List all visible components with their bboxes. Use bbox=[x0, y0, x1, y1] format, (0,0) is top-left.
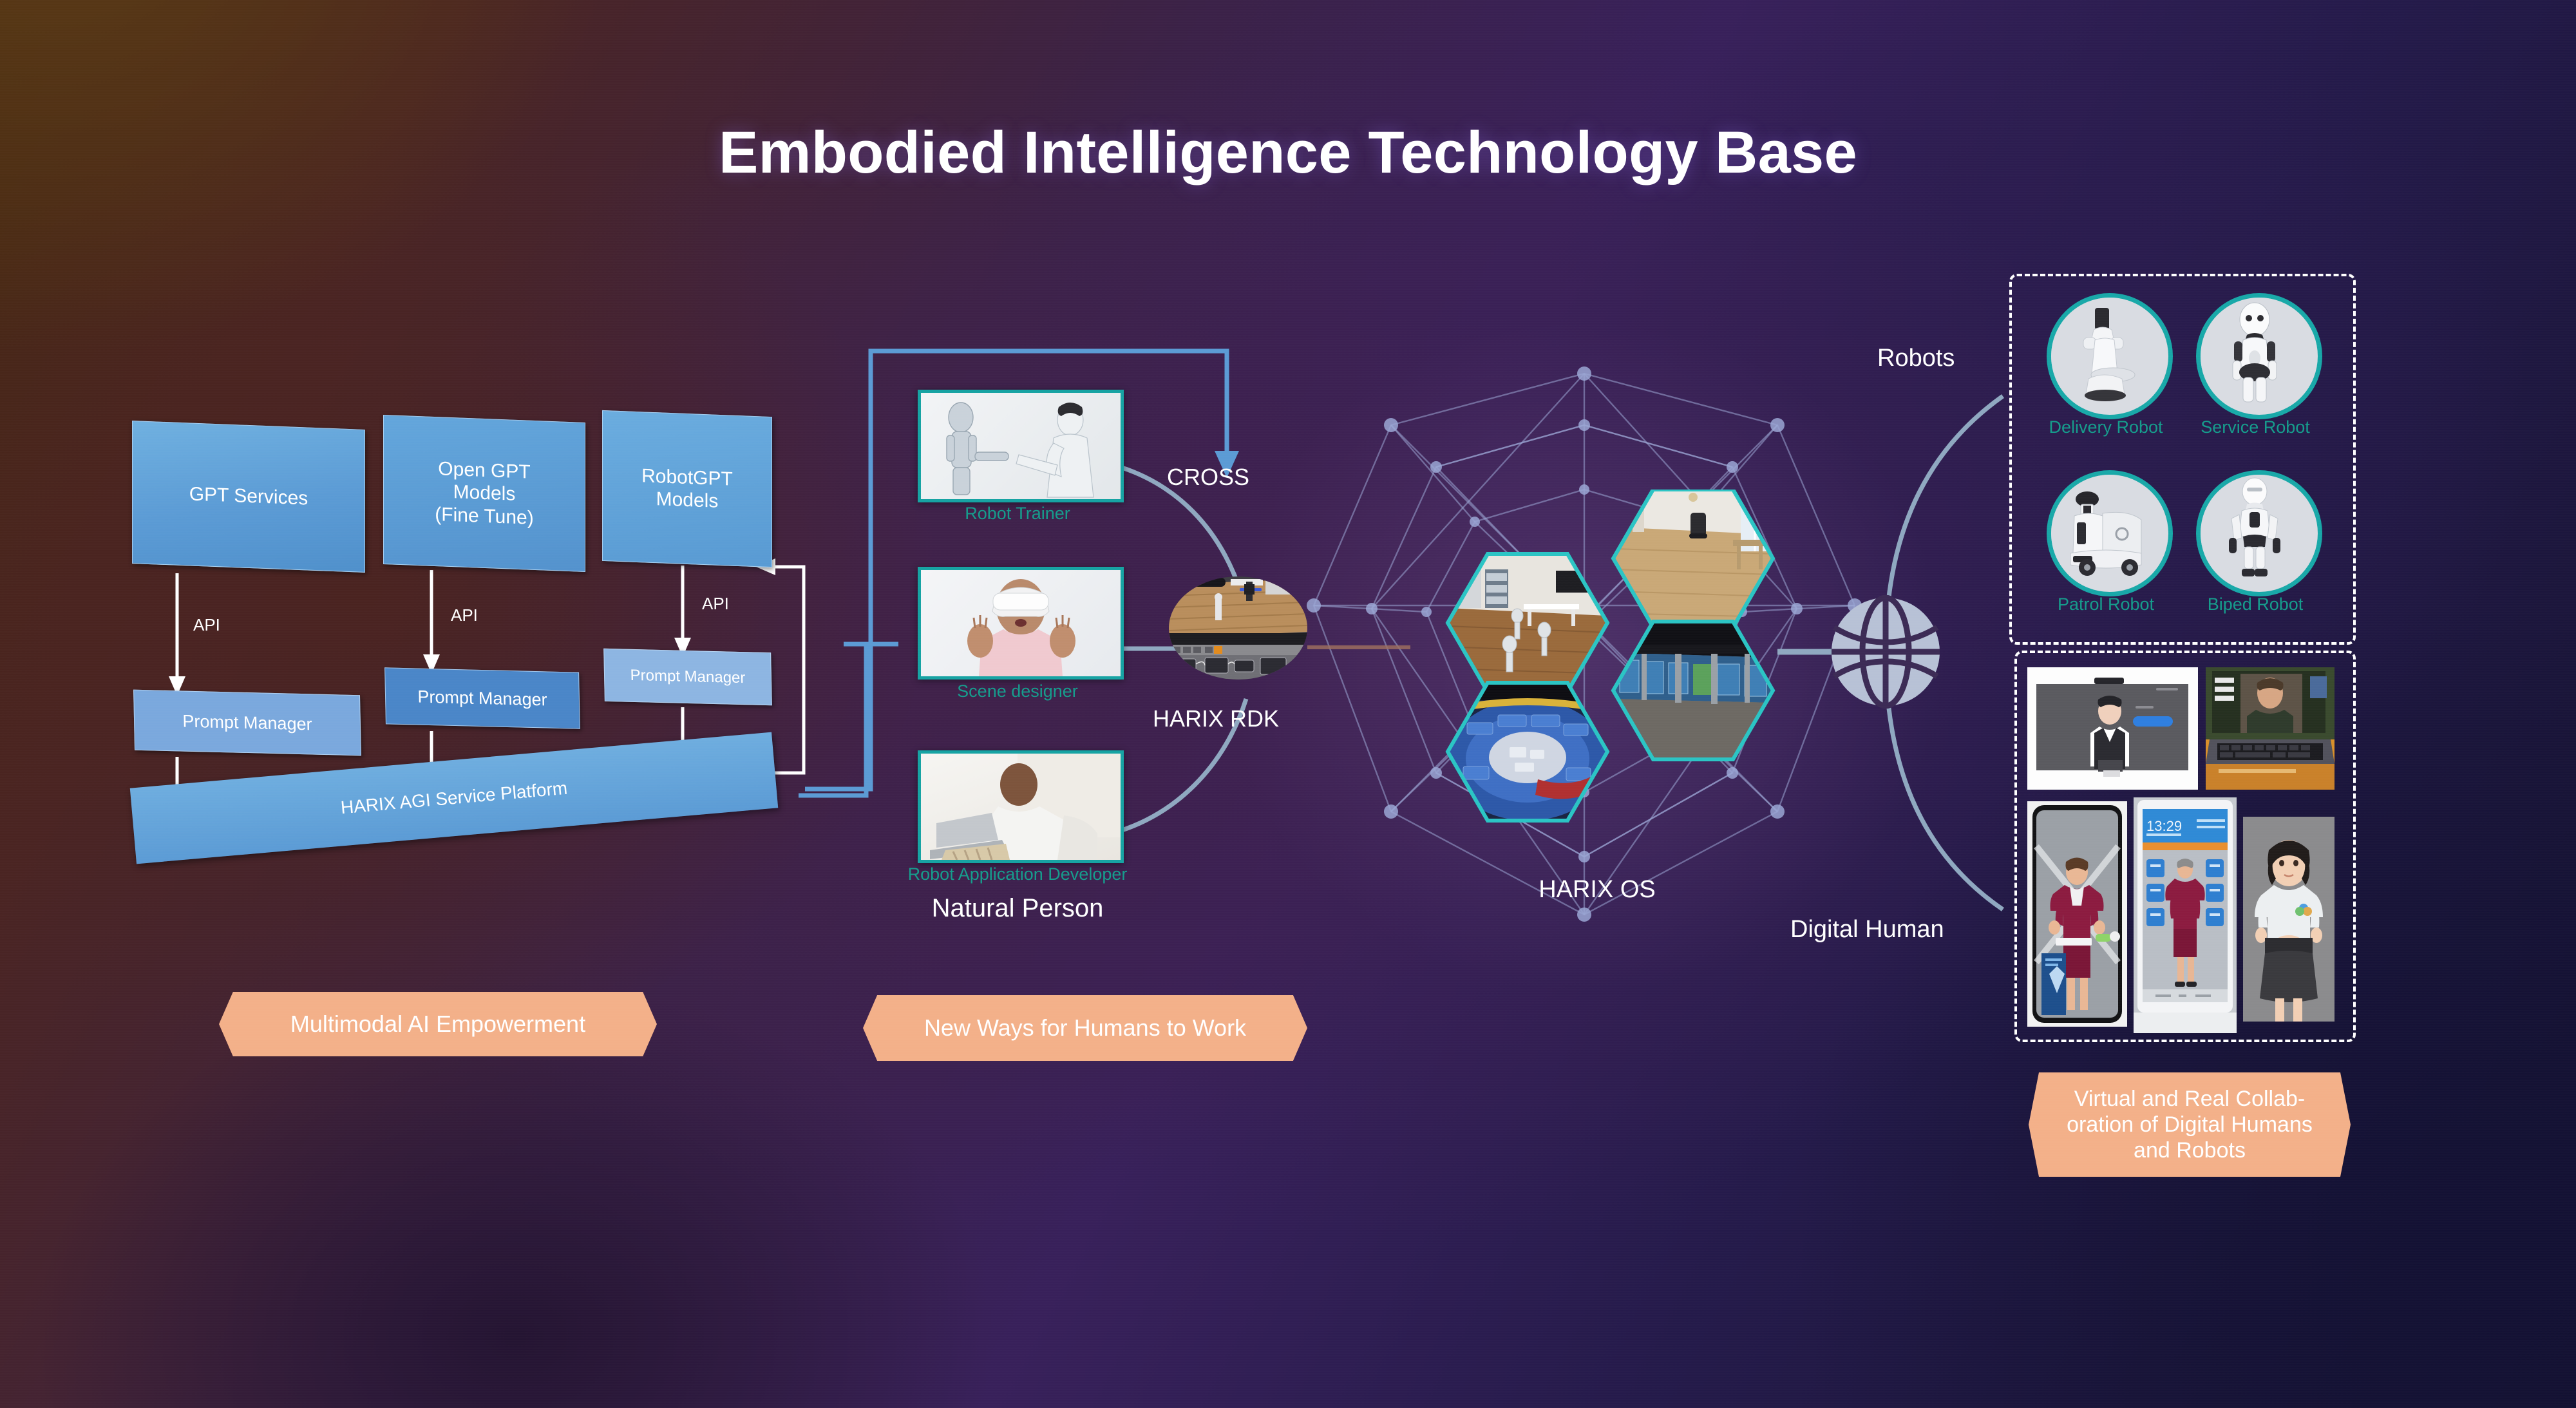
vr-headset-man-photo bbox=[921, 570, 1121, 676]
card-robot-application-developer[interactable] bbox=[918, 750, 1124, 863]
banner-2-label: New Ways for Humans to Work bbox=[924, 1014, 1246, 1042]
box-gpt-services-label: GPT Services bbox=[189, 483, 308, 510]
globe-icon bbox=[1832, 598, 1940, 706]
box-robotgpt-models[interactable]: RobotGPT Models bbox=[602, 410, 772, 567]
api-label-1: API bbox=[193, 615, 220, 635]
prompt-manager-3[interactable]: Prompt Manager bbox=[603, 649, 772, 705]
3d-scene-editor-thumb bbox=[1169, 576, 1307, 680]
cross-label: CROSS bbox=[1167, 464, 1249, 491]
digital-human-student-avatar[interactable] bbox=[2243, 817, 2334, 1022]
svg-text:13:29: 13:29 bbox=[2146, 818, 2182, 834]
banner-new-ways-for-humans-to-work: New Ways for Humans to Work bbox=[863, 995, 1307, 1061]
api-label-2: API bbox=[451, 605, 478, 625]
box-robotgpt-models-label: RobotGPT Models bbox=[641, 464, 733, 513]
banner-multimodal-ai-empowerment: Multimodal AI Empowerment bbox=[219, 992, 657, 1056]
prompt-manager-2[interactable]: Prompt Manager bbox=[384, 667, 580, 728]
harix-os-hex-cluster bbox=[1430, 490, 1790, 824]
prompt-manager-2-label: Prompt Manager bbox=[417, 687, 547, 710]
digital-human-display-screen[interactable] bbox=[2027, 667, 2198, 790]
banner-3-label: Virtual and Real Collab- oration of Digi… bbox=[2067, 1086, 2313, 1163]
harix-rdk-label: HARIX RDK bbox=[1153, 705, 1279, 732]
robots-label: Robots bbox=[1877, 345, 1955, 372]
card-scene-designer-caption: Scene designer bbox=[918, 681, 1117, 701]
patrol-robot-photo bbox=[2051, 475, 2159, 583]
robot-patrol-icon[interactable] bbox=[2047, 470, 2173, 596]
harix-agi-service-platform-label: HARIX AGI Service Platform bbox=[340, 778, 569, 819]
robot-handshake-photo bbox=[921, 393, 1121, 499]
card-robot-trainer[interactable] bbox=[918, 390, 1124, 502]
card-scene-designer[interactable] bbox=[918, 567, 1124, 680]
box-open-gpt-models-label: Open GPT Models (Fine Tune) bbox=[435, 457, 533, 529]
hex-tile-exhibition-hall[interactable] bbox=[1613, 622, 1773, 759]
robot-service-caption: Service Robot bbox=[2178, 417, 2333, 437]
hex-tile-kitchen[interactable] bbox=[1448, 554, 1607, 692]
delivery-robot-photo bbox=[2051, 298, 2159, 406]
digital-human-label: Digital Human bbox=[1790, 916, 1944, 944]
connector-agi-to-middle bbox=[799, 644, 866, 795]
biped-robot-photo bbox=[2201, 475, 2309, 583]
box-gpt-services[interactable]: GPT Services bbox=[132, 421, 365, 573]
service-robot-photo bbox=[2201, 298, 2309, 406]
harix-rdk-thumbnail[interactable] bbox=[1169, 576, 1307, 680]
prompt-manager-3-label: Prompt Manager bbox=[630, 667, 745, 687]
robot-delivery-icon[interactable] bbox=[2047, 293, 2173, 419]
digital-human-phone-avatar[interactable] bbox=[2027, 801, 2127, 1027]
harix-os-label: HARIX OS bbox=[1462, 876, 1732, 904]
robot-biped-icon[interactable] bbox=[2196, 470, 2322, 596]
page-title: Embodied Intelligence Technology Base bbox=[0, 119, 2576, 187]
card-robot-application-developer-caption: Robot Application Developer bbox=[873, 864, 1162, 884]
card-robot-trainer-caption: Robot Trainer bbox=[918, 504, 1117, 524]
diagram-canvas: Embodied Intelligence Technology Base GP… bbox=[0, 0, 2576, 1408]
hex-tile-indoor-room[interactable] bbox=[1613, 490, 1773, 627]
banner-virtual-real-collaboration: Virtual and Real Collab- oration of Digi… bbox=[2029, 1072, 2351, 1177]
banner-1-label: Multimodal AI Empowerment bbox=[290, 1011, 585, 1038]
box-open-gpt-models[interactable]: Open GPT Models (Fine Tune) bbox=[383, 415, 585, 572]
natural-person-label: Natural Person bbox=[889, 894, 1146, 923]
robot-biped-caption: Biped Robot bbox=[2178, 595, 2333, 614]
prompt-manager-1-label: Prompt Manager bbox=[182, 711, 312, 734]
connector-globe-branches bbox=[1886, 396, 2003, 909]
digital-human-kiosk[interactable]: 13:29 bbox=[2134, 797, 2237, 1033]
laptop-developer-photo bbox=[921, 754, 1121, 860]
api-label-3: API bbox=[702, 594, 729, 614]
hex-tile-auditorium[interactable] bbox=[1446, 683, 1609, 821]
digital-human-laptop-call[interactable] bbox=[2206, 667, 2334, 790]
robot-patrol-caption: Patrol Robot bbox=[2029, 595, 2183, 614]
robot-service-icon[interactable] bbox=[2196, 293, 2322, 419]
robot-delivery-caption: Delivery Robot bbox=[2029, 417, 2183, 437]
prompt-manager-1[interactable]: Prompt Manager bbox=[133, 690, 361, 756]
